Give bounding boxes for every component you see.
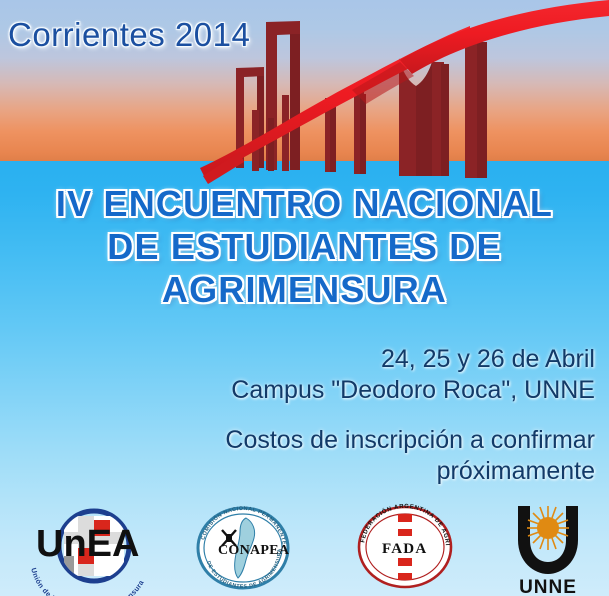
page-title: IV ENCUENTRO NACIONAL DE ESTUDIANTES DE … xyxy=(0,182,609,311)
event-poster: Corrientes 2014 IV ENCUENTRO NACIONAL DE… xyxy=(0,0,609,596)
fada-acronym: FADA xyxy=(382,541,427,557)
event-venue: Campus "Deodoro Roca", UNNE xyxy=(115,375,595,406)
cost-line-1: Costos de inscripción a confirmar xyxy=(95,425,595,456)
unne-logo: UNNE xyxy=(498,498,598,596)
unne-acronym: UNNE xyxy=(519,577,577,596)
sponsor-logo-strip: UnEA E Unión de Estudiantes de Agrimensu… xyxy=(0,498,609,596)
unne-sun-icon xyxy=(527,506,569,550)
registration-cost-note: Costos de inscripción a confirmar próxim… xyxy=(95,425,595,487)
location-year-heading: Corrientes 2014 xyxy=(8,16,250,54)
fada-logo: FADA FEDERACIÓN ARGENTINA DE AGRIMENSORE… xyxy=(352,498,457,596)
cost-line-2: próximamente xyxy=(95,456,595,487)
event-details: 24, 25 y 26 de Abril Campus "Deodoro Roc… xyxy=(115,344,595,406)
conapea-logo: CONAPEA COMISIÓN NACIONAL PERMANENTE DE … xyxy=(190,498,295,596)
unea-acronym: UnEA xyxy=(36,523,139,565)
title-line-1: IV ENCUENTRO NACIONAL xyxy=(0,182,609,225)
event-dates: 24, 25 y 26 de Abril xyxy=(115,344,595,375)
title-line-2: DE ESTUDIANTES DE xyxy=(0,225,609,268)
unea-logo: UnEA E Unión de Estudiantes de Agrimensu… xyxy=(8,498,173,596)
title-line-3: AGRIMENSURA xyxy=(0,268,609,311)
